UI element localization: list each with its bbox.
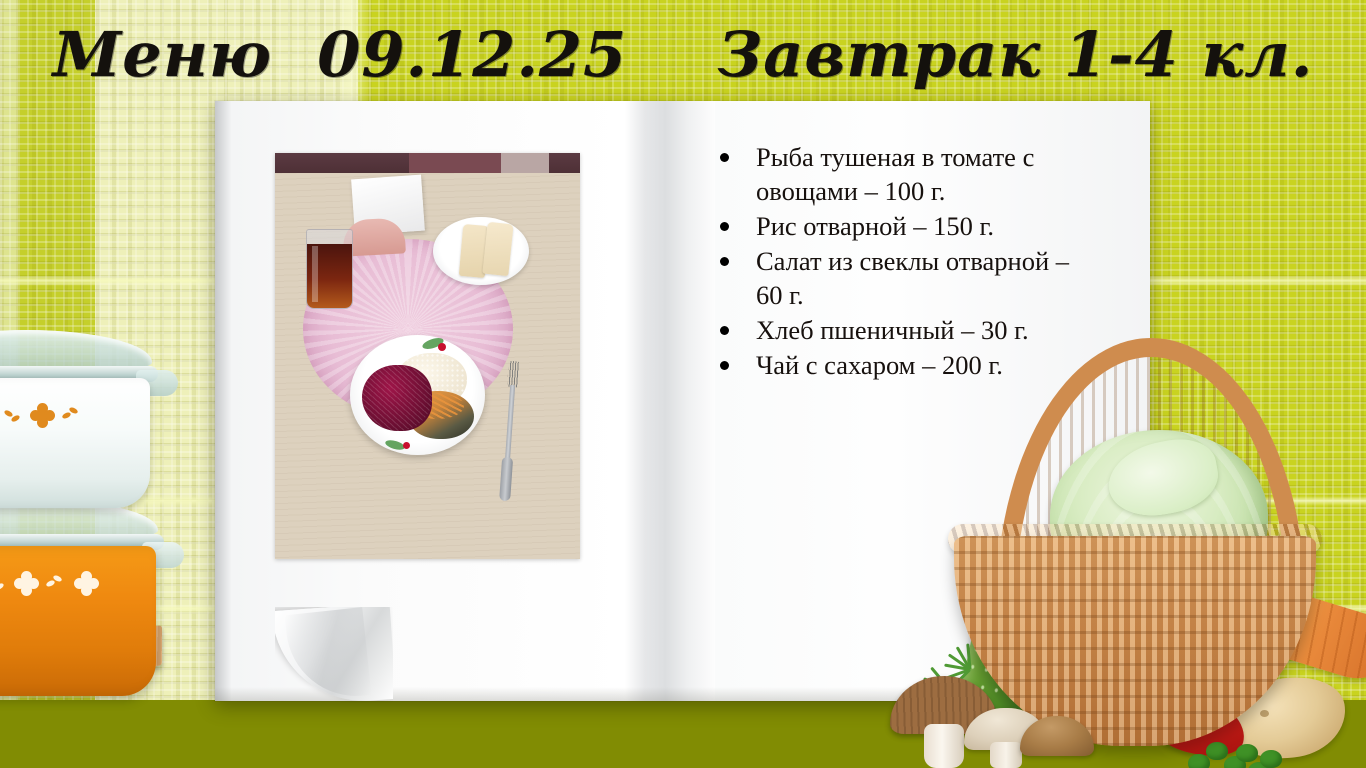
- photo-beet-texture: [362, 365, 432, 431]
- slide-canvas: Меню 09.12.25 Завтрак 1-4 кл.: [0, 0, 1366, 768]
- photo-glass-highlight: [312, 246, 318, 302]
- menu-item: Рыба тушеная в томате с овощами – 100 г.: [712, 140, 1072, 208]
- mushroom-small: [1020, 716, 1094, 768]
- menu-item: Рис отварной – 150 г.: [712, 209, 1072, 243]
- white-casserole: [0, 330, 152, 510]
- meal-photo: [275, 153, 580, 559]
- book-gutter-fold: [625, 101, 715, 701]
- photo-plate-berry-decor-1: [438, 343, 446, 351]
- photo-bread-slice-2: [482, 222, 513, 276]
- casserole-dishes: [0, 330, 242, 730]
- orange-casserole: [0, 498, 158, 698]
- photo-wall-light-band: [501, 153, 550, 173]
- page-title: Меню 09.12.25 Завтрак 1-4 кл.: [0, 18, 1366, 91]
- photo-plate-berry-decor-2: [403, 442, 410, 449]
- mushroom-cap: [1020, 716, 1094, 756]
- photo-tea-glass: [306, 229, 353, 309]
- casserole-flower-pattern: [0, 564, 150, 604]
- mushroom-stem: [990, 742, 1022, 768]
- menu-item: Салат из свеклы отварной – 60 г.: [712, 244, 1072, 312]
- mushroom-stem: [924, 724, 964, 768]
- photo-curtain-band: [409, 153, 513, 173]
- vegetable-basket: [938, 338, 1366, 768]
- casserole-flower-pattern: [0, 396, 144, 436]
